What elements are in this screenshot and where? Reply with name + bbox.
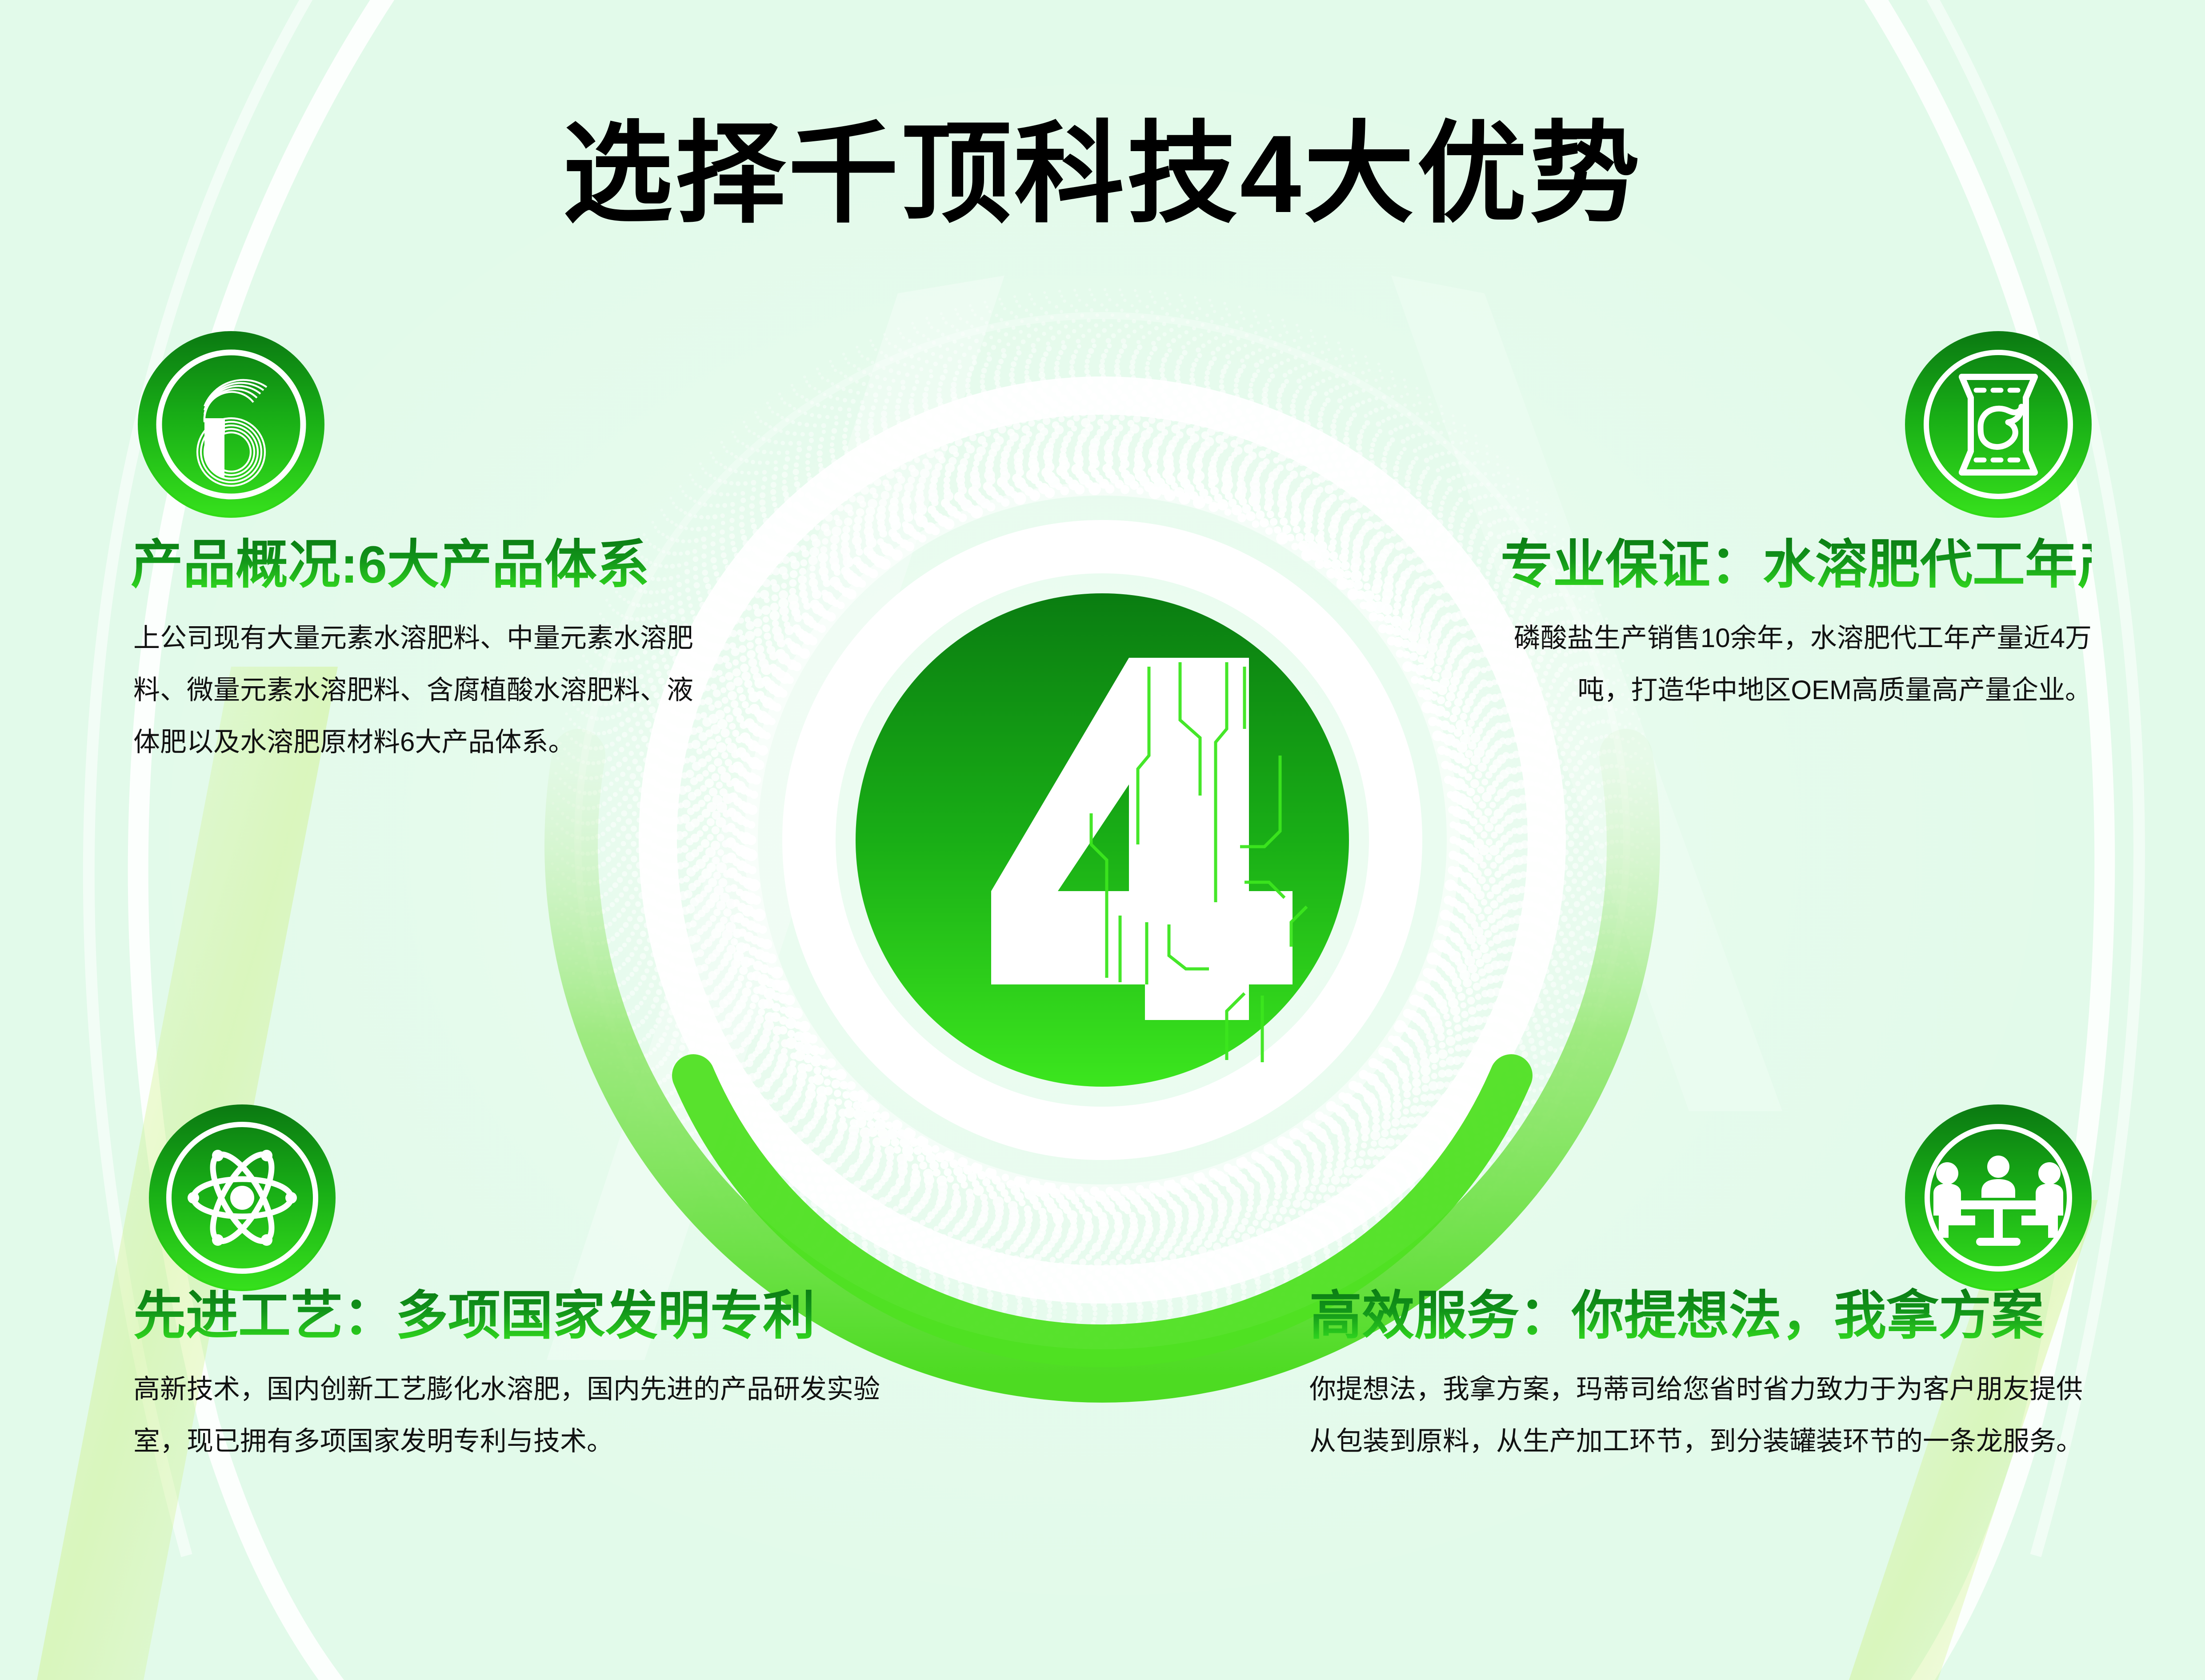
fertilizer-bag-icon: [1905, 331, 2092, 518]
page-title: 选择千顶科技4大优势: [0, 84, 2205, 244]
advantage-heading: 高效服务：你提想法，我拿方案: [1309, 1287, 2092, 1345]
advantage-body: 高新技术，国内创新工艺膨化水溶肥，国内先进的产品研发实验室，现已拥有多项国家发明…: [133, 1363, 898, 1467]
advantage-body: 磷酸盐生产销售10余年，水溶肥代工年产量近4万吨，打造华中地区OEM高质量高产量…: [1501, 612, 2092, 716]
advantage-body: 上公司现有大量元素水溶肥料、中量元素水溶肥料、微量元素水溶肥料、含腐植酸水溶肥料…: [133, 612, 711, 768]
advantage-body: 你提想法，我拿方案，玛蒂司给您省时省力致力于为客户朋友提供从包装到原料，从生产加…: [1309, 1363, 2092, 1467]
meeting-table-icon: [1905, 1104, 2092, 1291]
advantage-block-top-right: 专业保证：水溶肥代工年产量近4万吨 磷酸盐生产销售10余年，水溶肥代工年产量近4…: [1501, 536, 2092, 716]
atom-icon: [149, 1104, 336, 1291]
advantage-heading: 产品概况:6大产品体系: [131, 536, 711, 594]
number-six-rings-icon: [138, 331, 324, 518]
advantage-icon-top-left[interactable]: [138, 331, 324, 518]
advantage-block-top-left: 产品概况:6大产品体系 上公司现有大量元素水溶肥料、中量元素水溶肥料、微量元素水…: [133, 536, 711, 768]
advantage-heading: 先进工艺：多项国家发明专利: [133, 1287, 898, 1345]
advantage-heading: 专业保证：水溶肥代工年产量近4万吨: [1501, 536, 2092, 594]
advantage-block-bottom-left: 先进工艺：多项国家发明专利 高新技术，国内创新工艺膨化水溶肥，国内先进的产品研发…: [133, 1287, 898, 1467]
advantage-icon-bottom-right[interactable]: [1905, 1104, 2092, 1291]
advantage-block-bottom-right: 高效服务：你提想法，我拿方案 你提想法，我拿方案，玛蒂司给您省时省力致力于为客户…: [1309, 1287, 2092, 1467]
advantage-icon-top-right[interactable]: [1905, 331, 2092, 518]
advantage-icon-bottom-left[interactable]: [149, 1104, 336, 1291]
